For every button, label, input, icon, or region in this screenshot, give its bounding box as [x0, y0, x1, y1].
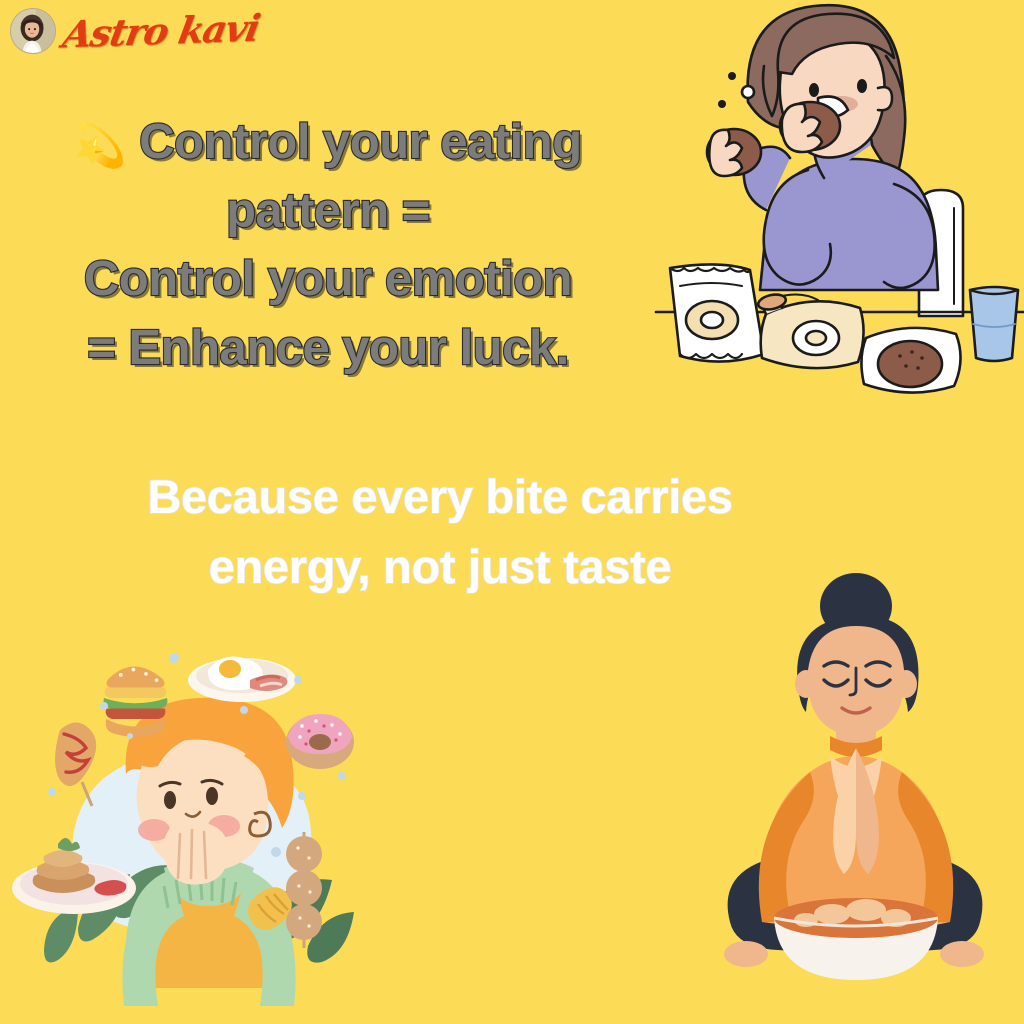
subtitle-text: Because every bite carries energy, not j… [60, 462, 820, 601]
avatar [10, 8, 56, 54]
headline-line-4: = Enhance your luck. [28, 314, 628, 383]
illustration-snacking-woman [648, 0, 1024, 414]
headline-line-2: pattern = [28, 177, 628, 246]
brand-name: Astro kavi [60, 9, 262, 53]
brand-logo[interactable]: Astro kavi [10, 8, 258, 54]
illustration-boy-refusing-junk-food [8, 628, 408, 1018]
illustration-meditating-woman [690, 566, 1020, 1021]
post-canvas: Astro kavi 💫 Control your eating pattern… [0, 0, 1024, 1024]
subtitle-line-2: energy, not just taste [60, 532, 820, 602]
headline-line-1: 💫 Control your eating [28, 108, 628, 177]
subtitle-line-1: Because every bite carries [60, 462, 820, 532]
headline-line-3: Control your emotion [28, 245, 628, 314]
headline-text: 💫 Control your eating pattern = Control … [28, 108, 628, 382]
headline-line-1-text: Control your eating [139, 115, 581, 169]
dizzy-star-icon: 💫 [74, 122, 126, 169]
